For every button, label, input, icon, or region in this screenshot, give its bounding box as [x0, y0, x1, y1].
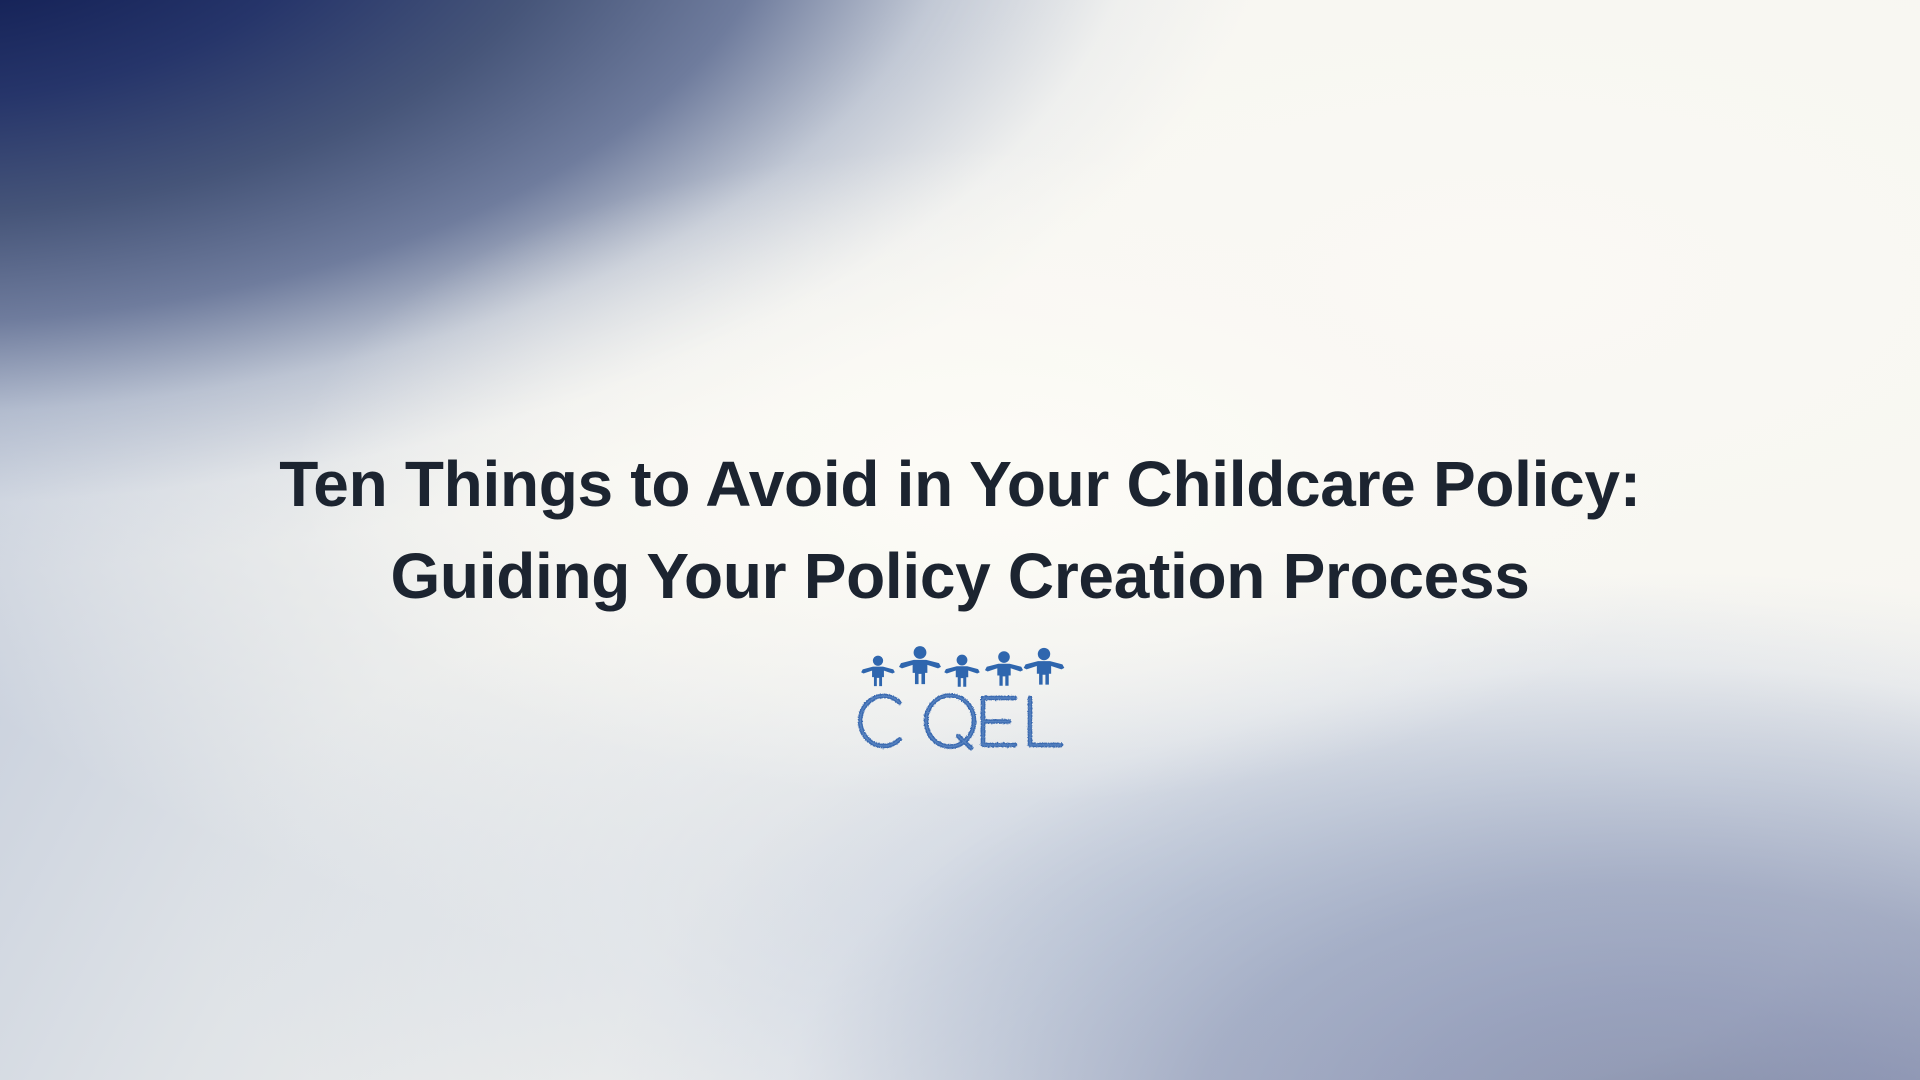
page-title: Ten Things to Avoid in Your Childcare Po…	[110, 438, 1810, 622]
cqel-logo	[852, 644, 1068, 756]
hero-banner: Ten Things to Avoid in Your Childcare Po…	[0, 0, 1920, 1080]
logo-children-figures	[861, 646, 1064, 687]
hero-content: Ten Things to Avoid in Your Childcare Po…	[0, 0, 1920, 1080]
logo-wordmark	[860, 696, 1061, 749]
cqel-logo-icon	[852, 644, 1068, 756]
